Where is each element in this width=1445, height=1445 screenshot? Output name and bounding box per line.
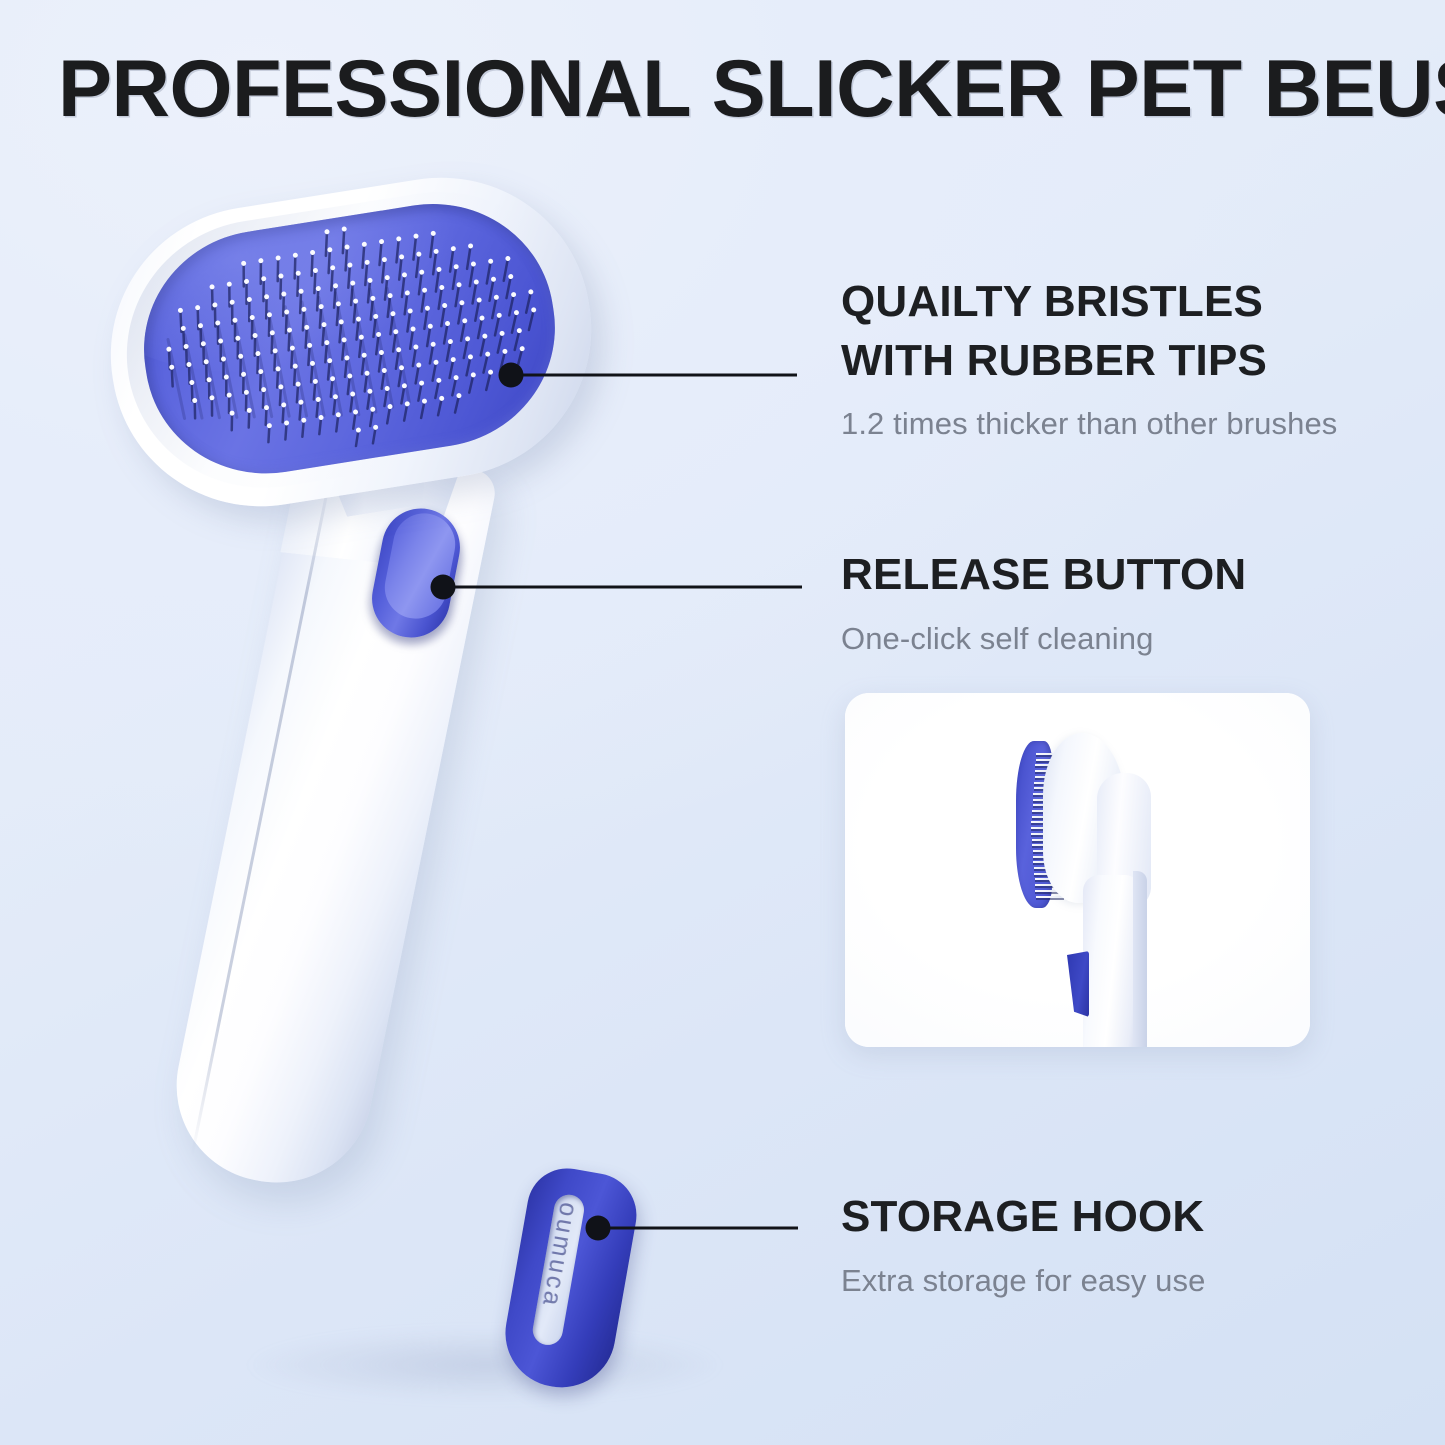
leader-line-stroke <box>517 374 797 377</box>
callout-subtext: Extra storage for easy use <box>841 1261 1421 1301</box>
callout-heading: QUAILTY BRISTLES WITH RUBBER TIPS <box>841 273 1421 390</box>
callout-subtext: 1.2 times thicker than other brushes <box>841 404 1421 444</box>
storage-hook[interactable]: oumuca <box>497 1162 643 1396</box>
callout-storage-hook: STORAGE HOOK Extra storage for easy use <box>841 1188 1421 1301</box>
callout-heading: RELEASE BUTTON <box>841 546 1421 605</box>
leader-dot-marker <box>431 575 456 600</box>
inset-brush-handle-edge <box>1133 871 1147 1047</box>
brush-head <box>90 156 613 528</box>
leader-line-storage-hook <box>598 1215 798 1241</box>
callout-heading: STORAGE HOOK <box>841 1188 1421 1247</box>
leader-line-bristles <box>511 362 797 388</box>
infographic-canvas: PROFESSIONAL SLICKER PET BEUSH oumuca <box>0 0 1445 1445</box>
inset-detail-card <box>845 693 1310 1047</box>
leader-dot-marker <box>586 1216 611 1241</box>
leader-line-stroke <box>604 1227 798 1230</box>
leader-dot-marker <box>499 363 524 388</box>
leader-line-stroke <box>449 586 802 589</box>
callout-quality-bristles: QUAILTY BRISTLES WITH RUBBER TIPS 1.2 ti… <box>841 273 1421 444</box>
callout-subtext: One-click self cleaning <box>841 619 1421 659</box>
callout-release-button: RELEASE BUTTON One-click self cleaning <box>841 546 1421 659</box>
leader-line-release-button <box>443 574 802 600</box>
